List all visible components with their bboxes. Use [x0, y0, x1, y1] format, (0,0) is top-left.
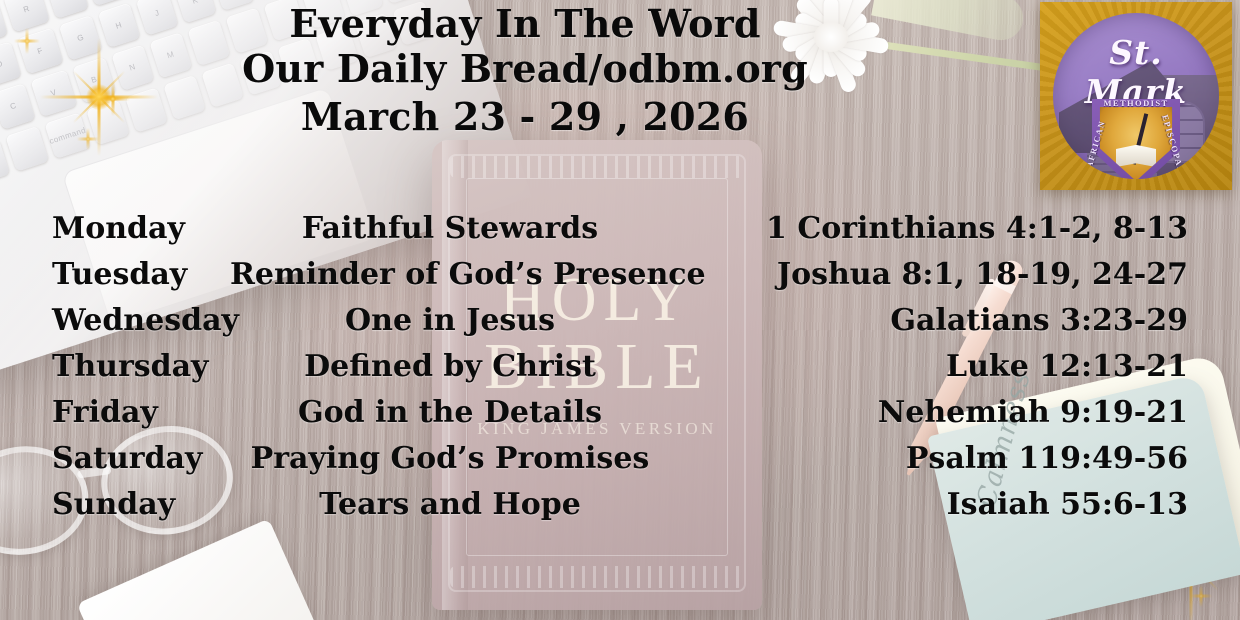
bible-ornament-bottom: [450, 566, 744, 588]
logo-circle: St. Mark METHODIST AFRICAN EPISCOPAL: [1053, 13, 1219, 179]
keyboard-key: T: [45, 0, 88, 19]
schedule-day: Wednesday: [0, 298, 230, 344]
schedule-row: TuesdayReminder of God’s PresenceJoshua …: [0, 252, 1240, 298]
weekly-reading-schedule: MondayFaithful Stewards1 Corinthians 4:1…: [0, 206, 1240, 528]
schedule-row: ThursdayDefined by ChristLuke 12:13-21: [0, 344, 1240, 390]
ring-text-episcopal: EPISCOPAL: [1161, 113, 1187, 174]
schedule-title: Defined by Christ: [230, 344, 670, 390]
schedule-reference: Psalm 119:49-56: [670, 436, 1210, 482]
schedule-title: One in Jesus: [230, 298, 670, 344]
schedule-reference: Luke 12:13-21: [670, 344, 1210, 390]
schedule-reference: Joshua 8:1, 18-19, 24-27: [670, 252, 1210, 298]
schedule-title: God in the Details: [230, 390, 670, 436]
schedule-title: Reminder of God’s Presence: [230, 252, 670, 298]
keyboard-key: G: [59, 15, 102, 61]
schedule-reference: 1 Corinthians 4:1-2, 8-13: [670, 206, 1210, 252]
schedule-reference: Galatians 3:23-29: [670, 298, 1210, 344]
flyer-canvas: QWERTYUIOPASDFGHJKLZXCVBNMcommand: [0, 0, 1240, 620]
title-line-2: Our Daily Bread/odbm.org: [200, 49, 850, 89]
schedule-row: SundayTears and HopeIsaiah 55:6-13: [0, 482, 1240, 528]
schedule-day: Tuesday: [0, 252, 230, 298]
schedule-title: Tears and Hope: [230, 482, 670, 528]
title-date-range: March 23 - 29 , 2026: [200, 97, 850, 137]
schedule-reference: Nehemiah 9:19-21: [670, 390, 1210, 436]
title-line-1: Everyday In The Word: [200, 4, 850, 44]
keyboard-key: B: [73, 57, 116, 103]
keyboard-key: M: [149, 32, 192, 78]
schedule-title: Praying God’s Promises: [230, 436, 670, 482]
keyboard-key: F: [16, 27, 64, 74]
schedule-day: Monday: [0, 206, 230, 252]
keyboard-key: D: [0, 41, 21, 87]
keyboard-key: C: [0, 84, 35, 130]
schedule-title: Faithful Stewards: [230, 206, 670, 252]
schedule-day: Thursday: [0, 344, 230, 390]
st-mark-logo: St. Mark METHODIST AFRICAN EPISCOPAL: [1040, 2, 1232, 190]
keyboard-key: V: [30, 70, 78, 117]
schedule-day: Sunday: [0, 482, 230, 528]
bible-ornament-top: [450, 156, 744, 178]
schedule-day: Saturday: [0, 436, 230, 482]
keyboard-key: H: [97, 3, 140, 49]
schedule-row: FridayGod in the DetailsNehemiah 9:19-21: [0, 390, 1240, 436]
keyboard-key: N: [111, 45, 154, 91]
schedule-row: SaturdayPraying God’s PromisesPsalm 119:…: [0, 436, 1240, 482]
keyboard-key: R: [3, 0, 51, 32]
ring-text-methodist: METHODIST: [1103, 98, 1168, 108]
keyboard-key: J: [135, 0, 178, 36]
shield-ring-text: METHODIST AFRICAN EPISCOPAL: [1084, 97, 1188, 179]
schedule-day: Friday: [0, 390, 230, 436]
page-title: Everyday In The Word Our Daily Bread/odb…: [200, 4, 850, 137]
schedule-row: MondayFaithful Stewards1 Corinthians 4:1…: [0, 206, 1240, 252]
schedule-reference: Isaiah 55:6-13: [670, 482, 1210, 528]
schedule-row: WednesdayOne in JesusGalatians 3:23-29: [0, 298, 1240, 344]
ring-text-african: AFRICAN: [1084, 119, 1107, 169]
